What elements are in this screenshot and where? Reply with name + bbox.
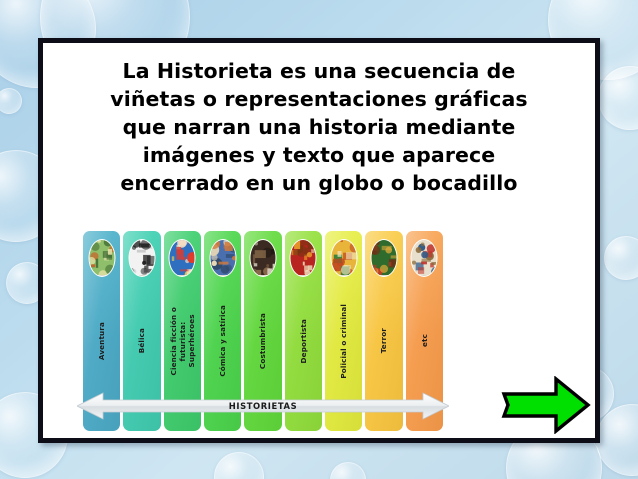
genre-bar-label-wrap: Bélica	[123, 285, 160, 397]
bubble-decoration	[604, 236, 638, 280]
axis-label: HISTORIETAS	[77, 392, 449, 420]
genre-bar-label: Policial o criminal	[339, 304, 348, 379]
genre-bar-label: Deportista	[299, 319, 308, 363]
war-comic-thumbnail	[128, 239, 155, 277]
genre-bar-label: Ciencia ficción o futurista: Superhéroes	[169, 307, 196, 375]
genre-bar-label-wrap: Aventura	[83, 285, 120, 397]
horror-comic-thumbnail	[370, 239, 397, 277]
genre-bar-label-wrap: Terror	[365, 285, 402, 397]
genre-bar-label: Costumbrista	[258, 313, 267, 369]
bubble-decoration	[598, 66, 638, 130]
bubble-decoration	[330, 462, 366, 479]
bubble-decoration	[596, 404, 638, 476]
adventure-comic-thumbnail	[88, 239, 115, 277]
sports-comic-thumbnail	[290, 239, 317, 277]
genre-bar-label-wrap: etc	[406, 285, 443, 397]
genre-bar-label-wrap: Costumbrista	[244, 285, 281, 397]
genre-bar-label: Bélica	[137, 328, 146, 353]
genre-bar-label-wrap: Ciencia ficción o futurista: Superhéroes	[164, 285, 201, 397]
slide-canvas: La Historieta es una secuencia de viñeta…	[0, 0, 638, 479]
title-line-1: La Historieta es una secuencia de	[51, 57, 587, 85]
bubble-decoration	[0, 88, 22, 114]
genre-bar-label: Aventura	[97, 322, 106, 360]
customs-comic-thumbnail	[249, 239, 276, 277]
page-title: La Historieta es una secuencia de viñeta…	[43, 57, 595, 197]
comedy-comic-thumbnail	[209, 239, 236, 277]
genre-bar-label: etc	[420, 334, 429, 347]
genre-diagram: AventuraBélicaCiencia ficción o futurist…	[83, 231, 443, 431]
historietas-axis-arrow: HISTORIETAS	[77, 392, 449, 420]
genre-bar-label: Cómica y satírica	[218, 305, 227, 377]
genre-bar-label: Terror	[379, 328, 388, 353]
title-line-3: que narran una historia mediante	[51, 113, 587, 141]
title-line-5: encerrado en un globo o bocadillo	[51, 169, 587, 197]
next-arrow-icon[interactable]	[500, 376, 592, 434]
title-line-2: viñetas o representaciones gráficas	[51, 85, 587, 113]
superhero-comic-thumbnail	[169, 239, 196, 277]
etc-comic-thumbnail	[411, 239, 438, 277]
genre-bar-label-wrap: Policial o criminal	[325, 285, 362, 397]
content-panel: La Historieta es una secuencia de viñeta…	[38, 38, 600, 443]
crime-comic-thumbnail	[330, 239, 357, 277]
genre-bar-label-wrap: Cómica y satírica	[204, 285, 241, 397]
title-line-4: imágenes y texto que aparece	[51, 141, 587, 169]
bubble-decoration	[214, 452, 264, 479]
genre-bar-label-wrap: Deportista	[285, 285, 322, 397]
